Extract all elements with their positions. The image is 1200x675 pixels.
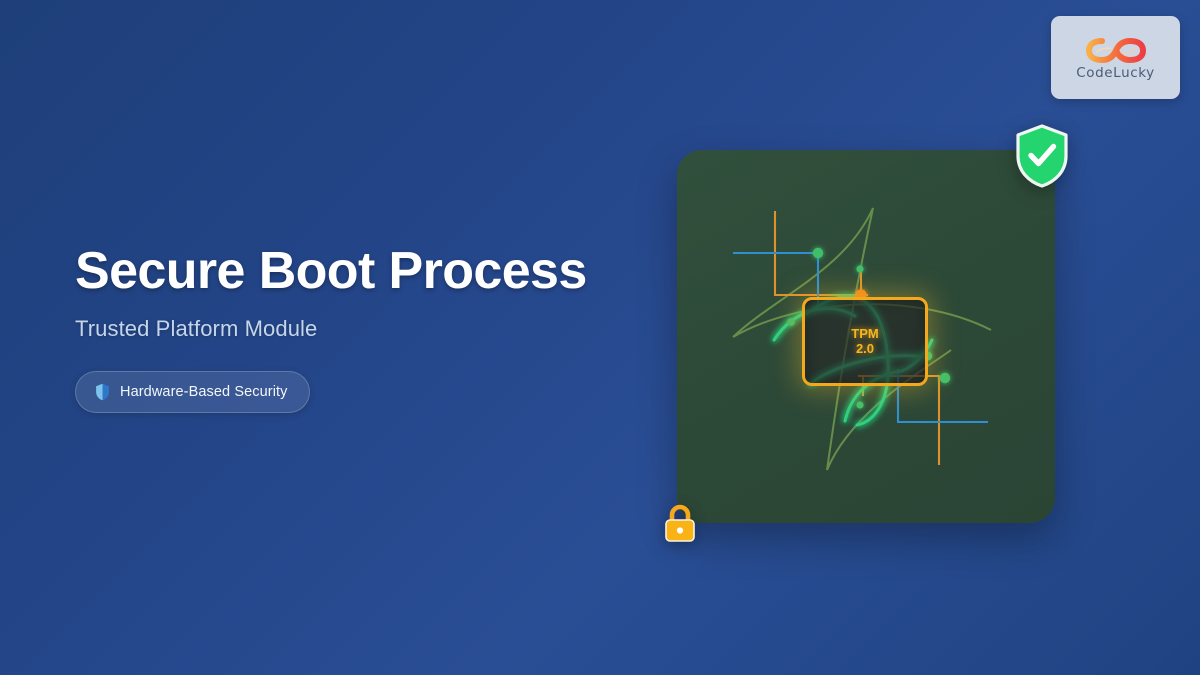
tpm-chip-label-line1: TPM <box>851 327 878 342</box>
page-title: Secure Boot Process <box>75 243 635 299</box>
page-root: CodeLucky Secure Boot Process Trusted Pl… <box>0 0 1200 675</box>
tpm-chip-label-line2: 2.0 <box>856 342 874 357</box>
tpm-visual-inner: TPM 2.0 <box>677 150 1055 523</box>
padlock-icon <box>660 501 700 545</box>
hardware-security-badge[interactable]: Hardware-Based Security <box>75 371 310 413</box>
node-green-5 <box>856 401 863 408</box>
tpm-chip: TPM 2.0 <box>802 297 928 386</box>
page-subtitle: Trusted Platform Module <box>75 316 635 342</box>
infinity-icon <box>1086 35 1146 66</box>
hero-section: Secure Boot Process Trusted Platform Mod… <box>75 243 635 413</box>
tpm-visual-card: TPM 2.0 <box>677 150 1055 523</box>
brand-name: CodeLucky <box>1076 67 1155 81</box>
hardware-security-badge-label: Hardware-Based Security <box>120 384 288 400</box>
brand-logo-card[interactable]: CodeLucky <box>1051 16 1180 99</box>
shield-icon <box>95 383 110 401</box>
shield-check-icon <box>1014 124 1070 188</box>
node-green-1 <box>813 248 823 258</box>
node-green-3 <box>787 318 795 326</box>
node-green-6 <box>940 373 950 383</box>
node-green-2 <box>856 265 863 272</box>
